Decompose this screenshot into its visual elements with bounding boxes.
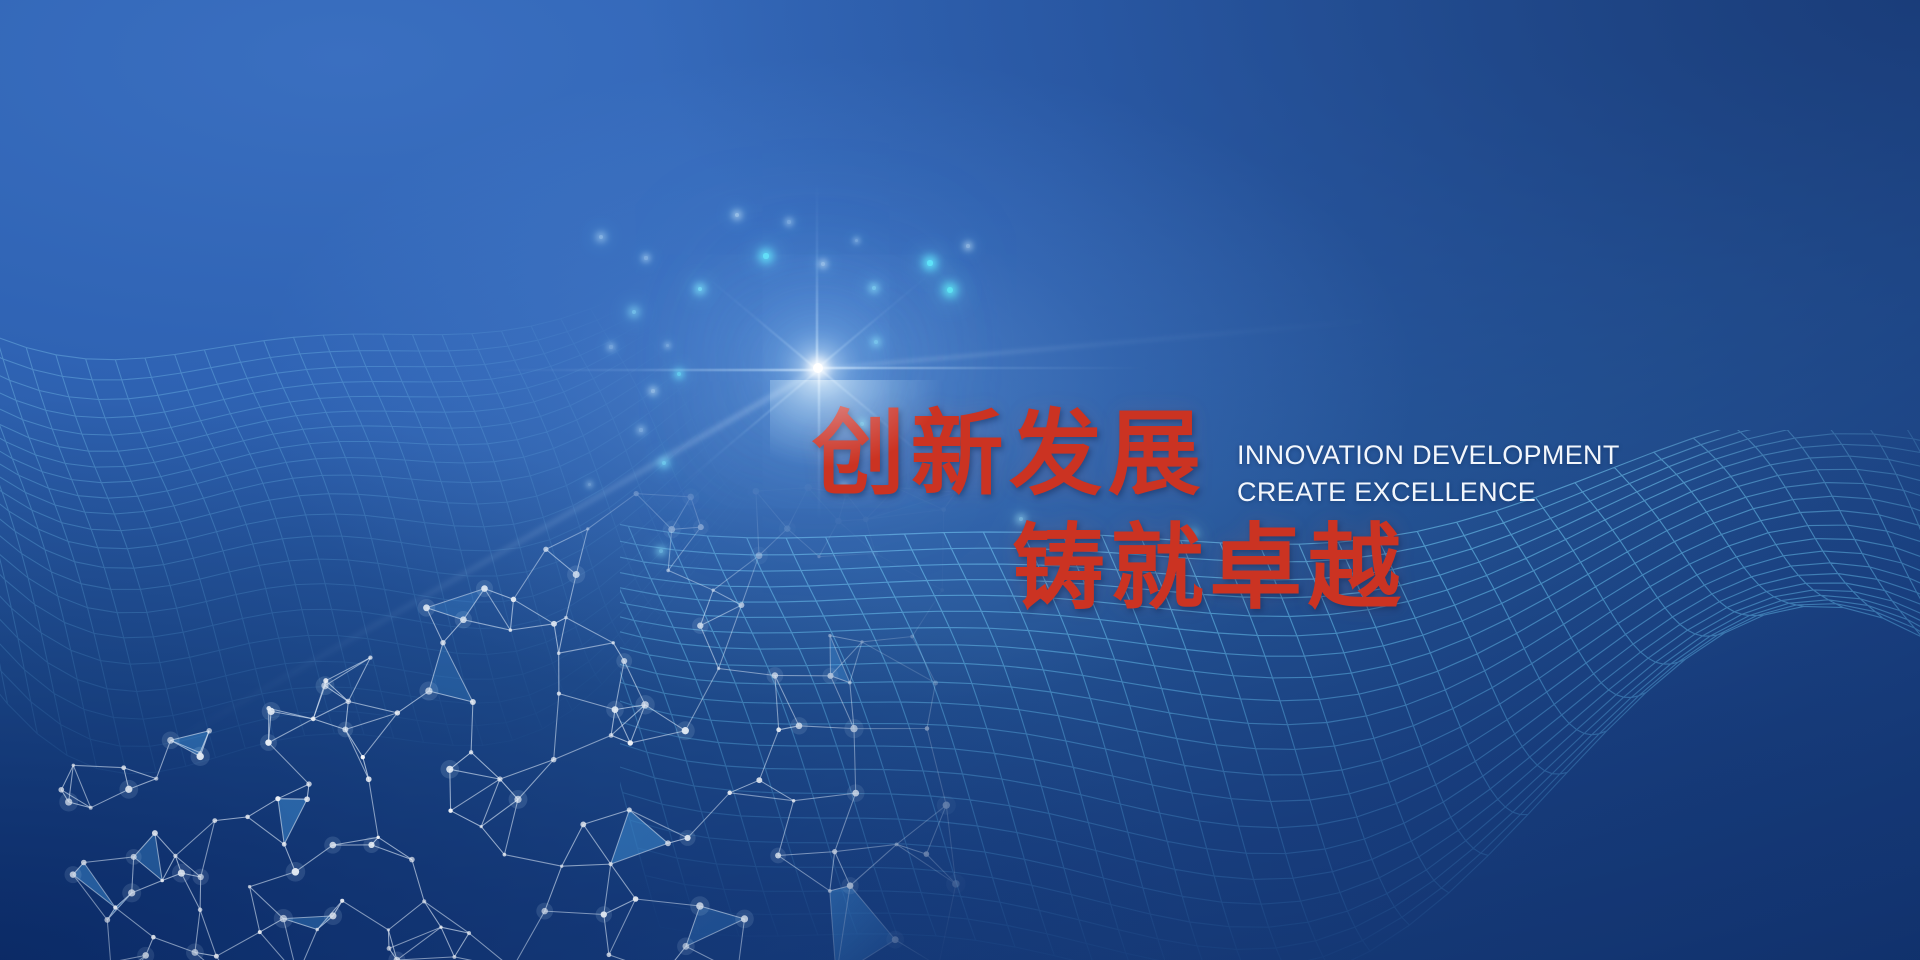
flare-ray-north (816, 184, 818, 369)
headline-chinese-line-2: 铸就卓越 (1012, 512, 1406, 624)
subheadline-line-1: INNOVATION DEVELOPMENT (1237, 437, 1620, 474)
flare-ray-west (488, 369, 818, 371)
banner-canvas: 创新发展 铸就卓越 INNOVATION DEVELOPMENT CREATE … (0, 0, 1920, 960)
subheadline-line-2: CREATE EXCELLENCE (1237, 474, 1620, 511)
subheadline-english: INNOVATION DEVELOPMENT CREATE EXCELLENCE (1237, 437, 1620, 511)
flare-core-icon (813, 363, 823, 373)
flare-ray-east (818, 367, 1148, 369)
headline-chinese-line-1: 创新发展 (812, 398, 1206, 510)
